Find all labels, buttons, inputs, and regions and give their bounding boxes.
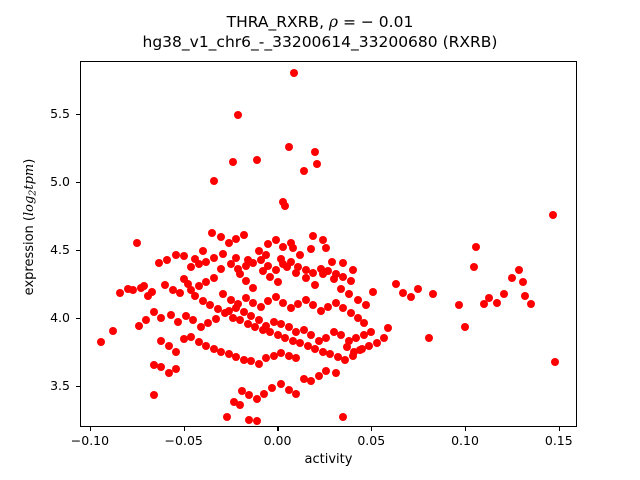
scatter-point xyxy=(180,252,188,260)
scatter-point xyxy=(309,269,317,277)
scatter-point xyxy=(294,300,302,308)
scatter-point xyxy=(184,280,192,288)
scatter-point xyxy=(172,365,180,373)
scatter-point xyxy=(349,266,357,274)
scatter-point xyxy=(350,348,358,356)
scatter-point xyxy=(322,244,330,252)
scatter-point xyxy=(279,299,287,307)
scatter-point xyxy=(155,259,163,267)
scatter-point xyxy=(493,299,501,307)
scatter-point xyxy=(508,274,516,282)
scatter-point xyxy=(210,177,218,185)
scatter-point xyxy=(109,327,117,335)
scatter-point xyxy=(369,288,377,296)
scatter-point xyxy=(129,286,137,294)
scatter-point xyxy=(165,342,173,350)
scatter-point xyxy=(521,292,529,300)
scatter-point xyxy=(279,243,287,251)
scatter-point xyxy=(307,331,315,339)
scatter-point xyxy=(399,289,407,297)
scatter-point xyxy=(380,334,388,342)
chart-title: THRA_RXRB, ρ = − 0.01 hg38_v1_chr6_-_332… xyxy=(0,12,640,52)
scatter-point xyxy=(264,297,272,305)
x-tick-label: 0.10 xyxy=(430,433,500,448)
scatter-point xyxy=(337,331,345,339)
scatter-point xyxy=(352,334,360,342)
scatter-point xyxy=(322,367,330,375)
scatter-point xyxy=(210,274,218,282)
scatter-point xyxy=(309,232,317,240)
scatter-point xyxy=(414,285,422,293)
chart-title-line1: THRA_RXRB, ρ = − 0.01 xyxy=(0,12,640,32)
scatter-point xyxy=(319,236,327,244)
scatter-point xyxy=(249,284,257,292)
scatter-point xyxy=(223,413,231,421)
scatter-point xyxy=(167,311,175,319)
x-tick-mark xyxy=(184,427,185,431)
scatter-point xyxy=(210,254,218,262)
scatter-point xyxy=(187,333,195,341)
y-tick-mark xyxy=(76,250,80,251)
scatter-point xyxy=(500,290,508,298)
scatter-point xyxy=(324,303,332,311)
scatter-point xyxy=(262,322,270,330)
scatter-point xyxy=(470,263,478,271)
scatter-point xyxy=(255,316,263,324)
scatter-point xyxy=(234,265,242,273)
scatter-point xyxy=(157,314,165,322)
scatter-point xyxy=(260,390,268,398)
scatter-point xyxy=(307,245,315,253)
scatter-point xyxy=(270,318,278,326)
scatter-point xyxy=(249,259,257,267)
scatter-point xyxy=(135,322,143,330)
scatter-point xyxy=(326,350,334,358)
scatter-point xyxy=(264,262,272,270)
y-axis-label-subscript: 2 xyxy=(27,190,38,196)
scatter-point xyxy=(133,239,141,247)
scatter-point xyxy=(292,328,300,336)
scatter-point xyxy=(266,273,274,281)
scatter-point xyxy=(189,316,197,324)
scatter-point xyxy=(365,342,373,350)
scatter-point xyxy=(290,69,298,77)
scatter-point xyxy=(232,235,240,243)
scatter-point xyxy=(360,319,368,327)
scatter-point xyxy=(255,360,263,368)
y-axis-label-log: log xyxy=(22,196,37,216)
plot-area xyxy=(80,61,577,427)
scatter-point xyxy=(219,290,227,298)
scatter-point xyxy=(268,384,276,392)
scatter-point xyxy=(315,337,323,345)
scatter-point xyxy=(187,263,195,271)
scatter-point xyxy=(202,278,210,286)
scatter-point xyxy=(549,211,557,219)
scatter-point xyxy=(217,265,225,273)
y-tick-mark xyxy=(76,114,80,115)
scatter-point xyxy=(97,338,105,346)
scatter-point xyxy=(202,258,210,266)
scatter-point xyxy=(455,301,463,309)
x-tick-label: 0.15 xyxy=(524,433,594,448)
scatter-point xyxy=(172,348,180,356)
x-tick-mark xyxy=(371,427,372,431)
x-tick-label: −0.10 xyxy=(55,433,125,448)
scatter-point xyxy=(272,293,280,301)
x-tick-mark xyxy=(277,427,278,431)
y-axis-label-unit: tpm xyxy=(22,164,37,190)
scatter-point xyxy=(240,231,248,239)
scatter-point xyxy=(360,331,368,339)
scatter-point xyxy=(472,243,480,251)
scatter-point xyxy=(195,260,203,268)
scatter-point xyxy=(358,345,366,353)
x-axis-label: activity xyxy=(80,452,577,467)
scatter-point xyxy=(347,277,355,285)
scatter-point xyxy=(150,308,158,316)
scatter-point xyxy=(332,369,340,377)
scatter-point xyxy=(157,337,165,345)
scatter-point xyxy=(249,299,257,307)
scatter-point xyxy=(362,301,370,309)
scatter-point xyxy=(281,202,289,210)
x-tick-mark xyxy=(465,427,466,431)
scatter-point xyxy=(515,266,523,274)
scatter-point xyxy=(242,277,250,285)
scatter-point xyxy=(274,278,282,286)
scatter-point xyxy=(313,160,321,168)
scatter-point xyxy=(140,282,148,290)
scatter-point xyxy=(339,259,347,267)
scatter-point xyxy=(212,315,220,323)
scatter-point xyxy=(296,339,304,347)
scatter-point xyxy=(294,263,302,271)
scatter-point xyxy=(339,273,347,281)
rho-symbol: ρ xyxy=(329,13,338,31)
scatter-point xyxy=(311,345,319,353)
scatter-point xyxy=(354,296,362,304)
scatter-point xyxy=(341,356,349,364)
scatter-point xyxy=(527,300,535,308)
scatter-point xyxy=(311,281,319,289)
scatter-point xyxy=(345,290,353,298)
scatter-point xyxy=(461,323,469,331)
scatter-point xyxy=(287,239,295,247)
scatter-point xyxy=(116,289,124,297)
scatter-point xyxy=(266,328,274,336)
scatter-point xyxy=(234,111,242,119)
scatter-point xyxy=(324,267,332,275)
x-tick-mark xyxy=(90,427,91,431)
scatter-point xyxy=(429,290,437,298)
scatter-point xyxy=(300,326,308,334)
scatter-point xyxy=(296,251,304,259)
scatter-point xyxy=(264,240,272,248)
scatter-point xyxy=(257,303,265,311)
scatter-point xyxy=(238,387,246,395)
scatter-point xyxy=(253,395,261,403)
scatter-point xyxy=(285,323,293,331)
scatter-point xyxy=(551,358,559,366)
scatter-point xyxy=(174,318,182,326)
scatter-point xyxy=(236,316,244,324)
scatter-point xyxy=(272,236,280,244)
scatter-point xyxy=(206,301,214,309)
scatter-point xyxy=(180,335,188,343)
scatter-point xyxy=(277,380,285,388)
scatter-point xyxy=(309,301,317,309)
scatter-point xyxy=(322,334,330,342)
scatter-point xyxy=(285,386,293,394)
scatter-point xyxy=(315,372,323,380)
scatter-point xyxy=(204,319,212,327)
scatter-point xyxy=(195,282,203,290)
chart-subtitle: hg38_v1_chr6_-_33200614_33200680 (RXRB) xyxy=(0,32,640,52)
scatter-point xyxy=(339,413,347,421)
scatter-point xyxy=(236,401,244,409)
scatter-point xyxy=(328,258,336,266)
scatter-point xyxy=(292,354,300,362)
scatter-point xyxy=(208,229,216,237)
scatter-point xyxy=(253,417,261,425)
scatter-point xyxy=(199,247,207,255)
scatter-point xyxy=(339,304,347,312)
scatter-point xyxy=(251,323,259,331)
scatter-point xyxy=(191,292,199,300)
scatter-point xyxy=(300,167,308,175)
scatter-point xyxy=(225,307,233,315)
scatter-point xyxy=(163,256,171,264)
scatter-point xyxy=(176,289,184,297)
scatter-point xyxy=(285,143,293,151)
scatter-point xyxy=(373,339,381,347)
scatter-point xyxy=(197,323,205,331)
y-tick-mark xyxy=(76,318,80,319)
scatter-point xyxy=(217,233,225,241)
scatter-point xyxy=(157,363,165,371)
x-tick-label: 0.00 xyxy=(242,433,312,448)
scatter-point xyxy=(367,328,375,336)
scatter-point xyxy=(169,286,177,294)
scatter-point xyxy=(292,390,300,398)
scatter-point xyxy=(281,334,289,342)
scatter-point xyxy=(142,316,150,324)
x-tick-mark xyxy=(559,427,560,431)
y-axis-label-suffix: ) xyxy=(22,159,37,164)
scatter-point xyxy=(384,324,392,332)
scatter-point xyxy=(253,156,261,164)
scatter-point xyxy=(150,391,158,399)
scatter-point xyxy=(311,148,319,156)
scatter-point xyxy=(519,278,527,286)
chart-title-gene: THRA_RXRB, xyxy=(227,13,329,31)
scatter-point xyxy=(148,288,156,296)
y-axis-label: expression (log2tpm) xyxy=(22,44,42,410)
scatter-point xyxy=(240,308,248,316)
x-tick-label: −0.05 xyxy=(149,433,219,448)
scatter-point xyxy=(302,274,310,282)
chart-title-rho-value: = − 0.01 xyxy=(338,13,413,31)
scatter-point xyxy=(337,285,345,293)
matplotlib-figure: THRA_RXRB, ρ = − 0.01 hg38_v1_chr6_-_332… xyxy=(0,0,640,480)
scatter-point xyxy=(229,158,237,166)
scatter-point xyxy=(219,250,227,258)
scatter-point xyxy=(182,312,190,320)
scatter-point xyxy=(425,334,433,342)
scatter-point xyxy=(272,266,280,274)
scatter-point xyxy=(307,377,315,385)
scatter-point xyxy=(407,293,415,301)
y-tick-mark xyxy=(76,182,80,183)
y-axis-label-prefix: expression ( xyxy=(22,216,37,295)
scatter-point xyxy=(161,281,169,289)
scatter-point xyxy=(392,280,400,288)
x-tick-label: 0.05 xyxy=(336,433,406,448)
y-tick-mark xyxy=(76,386,80,387)
